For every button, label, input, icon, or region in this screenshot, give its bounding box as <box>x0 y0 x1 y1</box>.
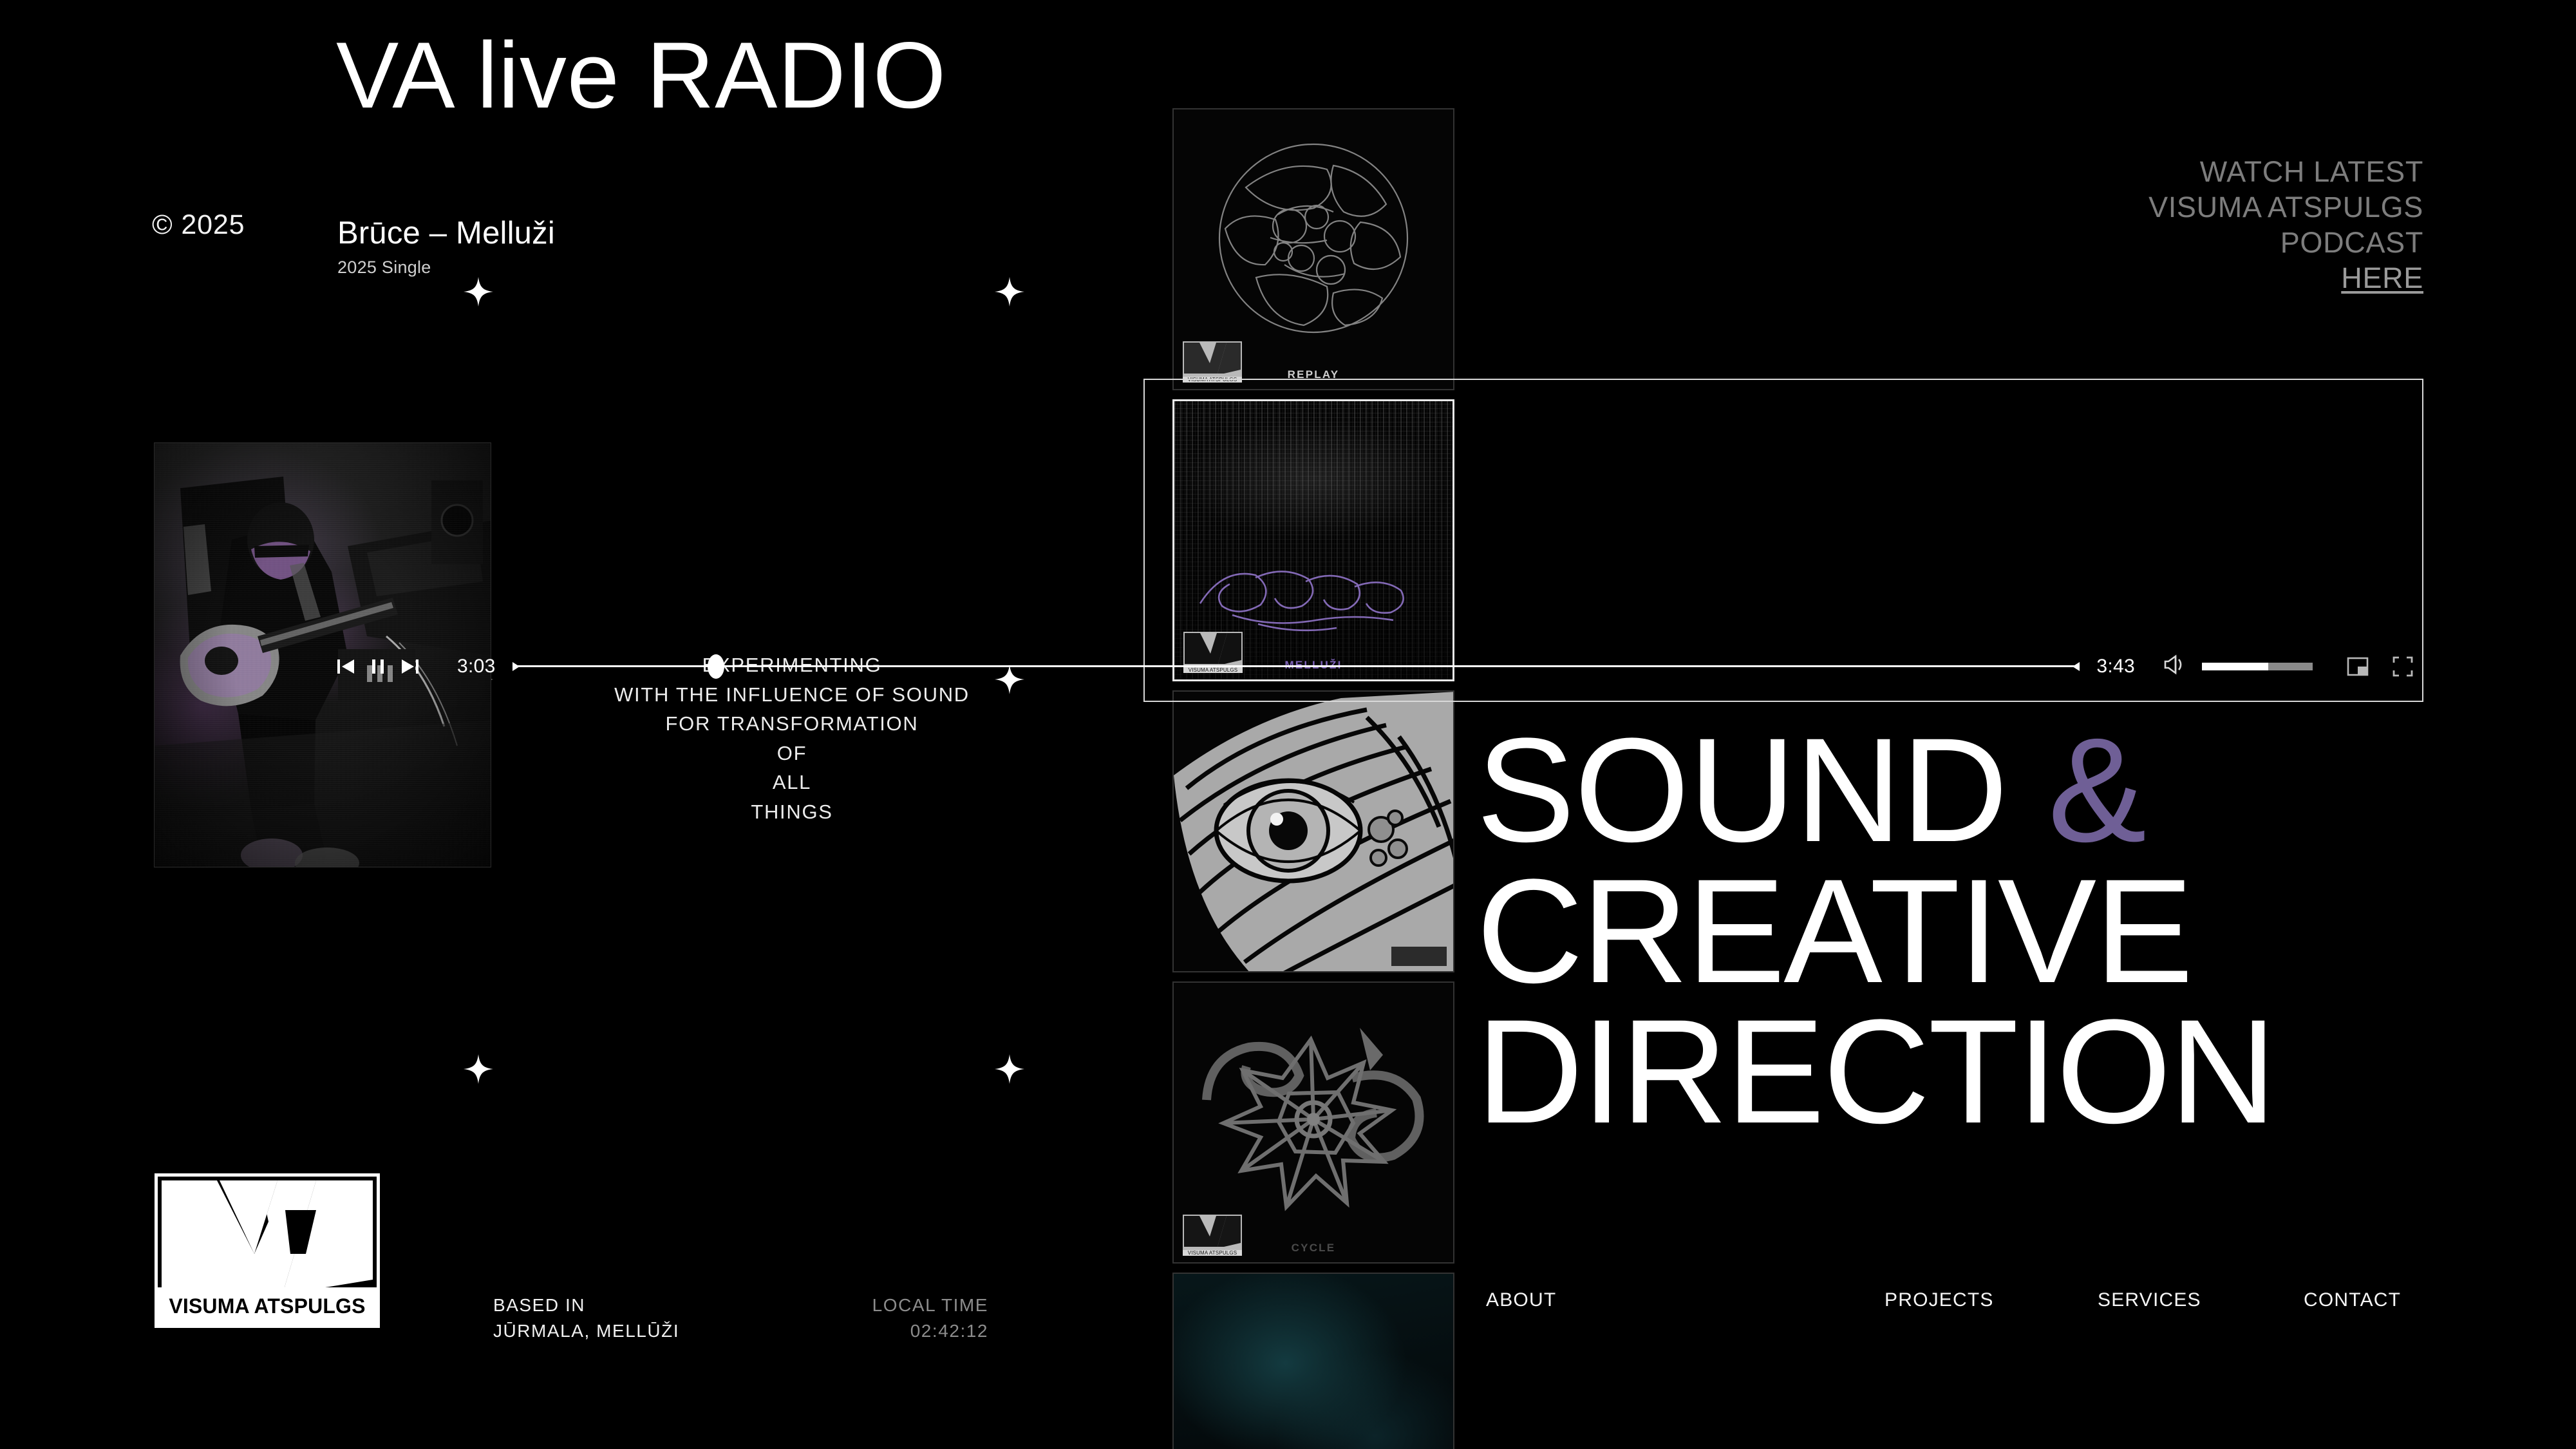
hero-headline: SOUND & CREATIVE DIRECTION <box>1476 720 2442 1142</box>
track-title: Brūce – Melluži <box>337 215 555 251</box>
progress-handle[interactable] <box>708 654 724 679</box>
duration-time: 3:43 <box>2096 656 2135 677</box>
thumbnail-item[interactable]: VISUMA ATSPULGS REPLAY <box>1172 108 1454 390</box>
release-thumbnail-rail[interactable]: VISUMA ATSPULGS REPLAY <box>1172 108 1454 1449</box>
page-root: © 2025 <box>0 0 2576 1449</box>
progress-track <box>512 665 2080 667</box>
transport-buttons[interactable] <box>335 656 421 677</box>
sparkle-icon <box>995 1054 1024 1084</box>
progress-cap-right <box>2073 662 2080 671</box>
statement-line: OF <box>451 739 1133 768</box>
thumbnail-item[interactable]: VISUMA ATSPULGS CYCLE <box>1172 981 1454 1264</box>
picture-in-picture-icon[interactable] <box>2346 655 2369 678</box>
based-in-value: JŪRMALA, MELLŪŽI <box>493 1318 679 1344</box>
copyright-label: © 2025 <box>152 209 245 241</box>
watch-latest-podcast-link[interactable]: WATCH LATEST VISUMA ATSPULGS PODCAST HER… <box>1973 155 2423 296</box>
local-time-value: 02:42:12 <box>776 1318 988 1344</box>
volume-slider[interactable] <box>2202 663 2313 670</box>
volume-control[interactable] <box>2163 652 2313 680</box>
statement-line: WITH THE INFLUENCE OF SOUND <box>451 680 1133 710</box>
nav-item-projects[interactable]: PROJECTS <box>1885 1289 1994 1311</box>
track-subtitle: 2025 Single <box>337 258 431 278</box>
statement-line: THINGS <box>451 797 1133 827</box>
bottom-navigation[interactable]: ABOUT PROJECTS SERVICES CONTACT <box>0 1289 2576 1320</box>
statement-line: ALL <box>451 768 1133 797</box>
va-monogram-icon <box>158 1177 377 1289</box>
sparkle-icon <box>464 277 493 307</box>
nav-item-about[interactable]: ABOUT <box>1486 1289 1556 1311</box>
thumbnail-item[interactable] <box>1172 690 1454 972</box>
statement-line: FOR TRANSFORMATION <box>451 709 1133 739</box>
hero-line-3: DIRECTION <box>1476 1001 2442 1142</box>
nav-item-services[interactable]: SERVICES <box>2098 1289 2201 1311</box>
hero-line-2: CREATIVE <box>1476 861 2442 1002</box>
eye-illustration-art <box>1174 692 1453 971</box>
watch-line-2: VISUMA ATSPULGS <box>1973 190 2423 225</box>
skip-next-icon[interactable] <box>399 656 421 677</box>
current-time: 3:03 <box>457 656 496 677</box>
nav-item-contact[interactable]: CONTACT <box>2304 1289 2401 1311</box>
fullscreen-icon[interactable] <box>2391 655 2414 678</box>
web-mandala-art <box>1191 1016 1436 1229</box>
player-controls[interactable]: 3:03 3:43 <box>335 652 2414 680</box>
progress-slider[interactable] <box>512 658 2080 675</box>
thumbnail-label: CYCLE <box>1174 1242 1453 1255</box>
hero-line-1: SOUND & <box>1476 720 2442 861</box>
sparkle-icon <box>995 277 1024 307</box>
skip-previous-icon[interactable] <box>335 656 357 677</box>
watch-here-link[interactable]: HERE <box>1973 261 2423 296</box>
watch-line-3: PODCAST <box>1973 225 2423 261</box>
progress-cap-left <box>512 662 520 671</box>
sparkle-icon <box>464 1054 493 1084</box>
organic-circle-art <box>1207 132 1420 345</box>
watch-line-1: WATCH LATEST <box>1973 155 2423 190</box>
speaker-icon[interactable] <box>2163 652 2188 680</box>
radio-player-title: VA live RADIO <box>336 28 946 122</box>
pause-icon[interactable] <box>368 656 388 677</box>
volume-fill <box>2202 663 2268 670</box>
